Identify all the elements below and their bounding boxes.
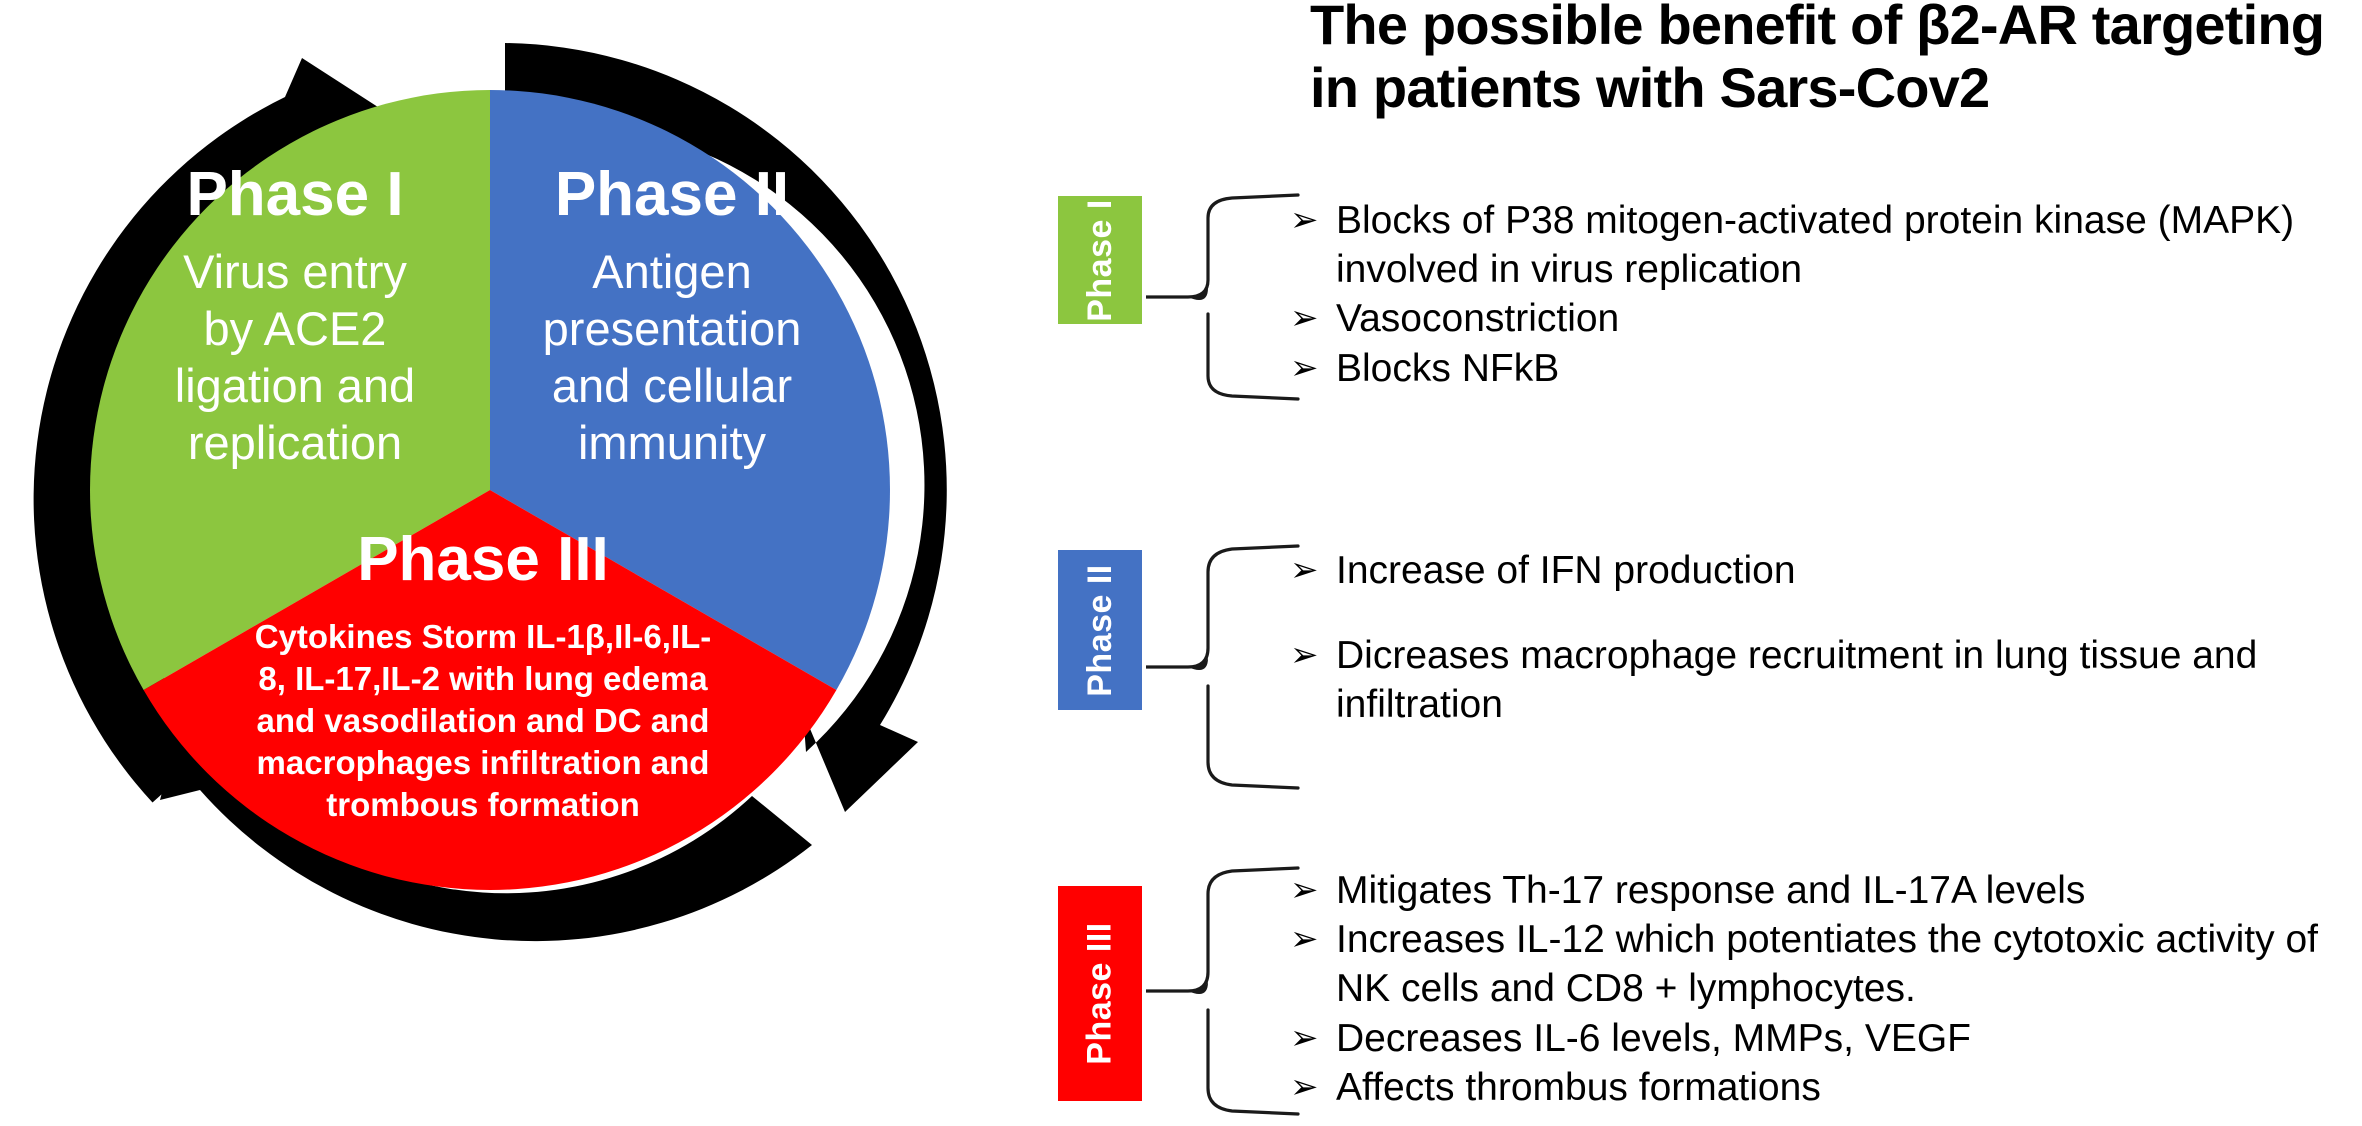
wedge-phase-3-title: Phase III <box>357 525 609 594</box>
wedge-phase-3-line-4: trombous formation <box>326 786 639 823</box>
arrow-bullet-icon: ➢ <box>1290 294 1336 343</box>
list-item: ➢ Affects thrombus formations <box>1290 1063 2362 1112</box>
phase-chip-2: Phase II <box>1058 550 1142 710</box>
wedge-phase-3-line-3: macrophages infiltration and <box>257 744 710 781</box>
wedge-phase-3-line-2: and vasodilation and DC and <box>257 702 710 739</box>
cycle-svg: Phase I Virus entry by ACE2 ligation and… <box>0 0 1000 1000</box>
arrow-bullet-icon: ➢ <box>1290 1014 1336 1063</box>
benefits-panel: The possible benefit of β2-AR targeting … <box>1040 0 2362 1126</box>
arrow-bullet-icon: ➢ <box>1290 546 1336 595</box>
brace-2 <box>1146 542 1306 792</box>
arrow-bullet-icon: ➢ <box>1290 1063 1336 1112</box>
list-item: ➢ Decreases IL-6 levels, MMPs, VEGF <box>1290 1014 2362 1063</box>
phase-chip-2-label: Phase II <box>1081 564 1120 697</box>
list-item-text: Affects thrombus formations <box>1336 1063 2362 1112</box>
wedge-phase-2-title: Phase II <box>555 160 789 229</box>
bottom-edge <box>0 1122 2362 1126</box>
brace-1 <box>1146 192 1306 402</box>
wedge-phase-1-text: Phase I Virus entry by ACE2 ligation and… <box>175 160 415 469</box>
list-item: ➢ Increase of IFN production <box>1290 546 2362 595</box>
phase-3-bullet-list: ➢ Mitigates Th-17 response and IL-17A le… <box>1290 866 2362 1112</box>
phase-1-bullet-list: ➢ Blocks of P38 mitogen-activated protei… <box>1290 196 2362 393</box>
phase-chip-1: Phase I <box>1058 196 1142 324</box>
list-item: ➢ Dicreases macrophage recruitment in lu… <box>1290 631 2362 729</box>
wedge-phase-2-text: Phase II Antigen presentation and cellul… <box>543 160 802 469</box>
phase-chip-3: Phase III <box>1058 886 1142 1101</box>
arrow-bullet-icon: ➢ <box>1290 196 1336 245</box>
wedge-phase-2-line-2: and cellular <box>552 359 792 412</box>
phase-block-3: Phase III ➢ Mitigates Th-17 response and… <box>1040 866 2362 1126</box>
wedge-phase-1-line-2: ligation and <box>175 359 415 412</box>
list-item-text: Dicreases macrophage recruitment in lung… <box>1336 631 2362 729</box>
list-item: ➢ Blocks NFkB <box>1290 344 2362 393</box>
wedge-phase-1-line-0: Virus entry <box>183 245 407 298</box>
list-item-text: Decreases IL-6 levels, MMPs, VEGF <box>1336 1014 2362 1063</box>
phase-block-1: Phase I ➢ Blocks of P38 mitogen-activate… <box>1040 196 2362 496</box>
wedge-phase-2-line-3: immunity <box>578 416 767 469</box>
list-item-text: Blocks of P38 mitogen-activated protein … <box>1336 196 2362 294</box>
wedge-phase-3-line-1: 8, IL-17,IL-2 with lung edema <box>258 660 708 697</box>
brace-3-svg <box>1146 866 1306 1116</box>
list-item-text: Increases IL-12 which potentiates the cy… <box>1336 915 2362 1013</box>
wedge-phase-2-line-1: presentation <box>543 302 802 355</box>
phase-chip-1-label: Phase I <box>1081 199 1120 322</box>
phase-2-bullet-list: ➢ Increase of IFN production ➢ Dicreases… <box>1290 546 2362 766</box>
wedge-phase-1-line-1: by ACE2 <box>204 302 387 355</box>
arrow-bullet-icon: ➢ <box>1290 915 1336 964</box>
wedge-phase-2-line-0: Antigen <box>592 245 751 298</box>
list-item: ➢ Blocks of P38 mitogen-activated protei… <box>1290 196 2362 294</box>
list-item-text: Mitigates Th-17 response and IL-17A leve… <box>1336 866 2362 915</box>
cycle-diagram: Phase I Virus entry by ACE2 ligation and… <box>0 0 1000 1000</box>
arrow-bullet-icon: ➢ <box>1290 344 1336 393</box>
brace-3 <box>1146 866 1306 1116</box>
list-item-text: Blocks NFkB <box>1336 344 2362 393</box>
phase-chip-3-label: Phase III <box>1081 922 1120 1064</box>
wedge-phase-3-line-0: Cytokines Storm IL-1β,Il-6,IL- <box>255 618 712 655</box>
arrow-bullet-icon: ➢ <box>1290 631 1336 680</box>
wedge-phase-1-title: Phase I <box>186 160 403 229</box>
phase-block-2: Phase II ➢ Increase of IFN production ➢ … <box>1040 540 2362 820</box>
list-item: ➢ Mitigates Th-17 response and IL-17A le… <box>1290 866 2362 915</box>
arrow-bullet-icon: ➢ <box>1290 866 1336 915</box>
brace-2-svg <box>1146 542 1306 792</box>
brace-1-svg <box>1146 192 1306 402</box>
list-item-text: Vasoconstriction <box>1336 294 2362 343</box>
page-title: The possible benefit of β2-AR targeting … <box>1310 0 2362 119</box>
wedge-phase-1-line-3: replication <box>188 416 402 469</box>
list-item: ➢ Vasoconstriction <box>1290 294 2362 343</box>
list-item-text: Increase of IFN production <box>1336 546 2362 595</box>
list-item: ➢ Increases IL-12 which potentiates the … <box>1290 915 2362 1013</box>
